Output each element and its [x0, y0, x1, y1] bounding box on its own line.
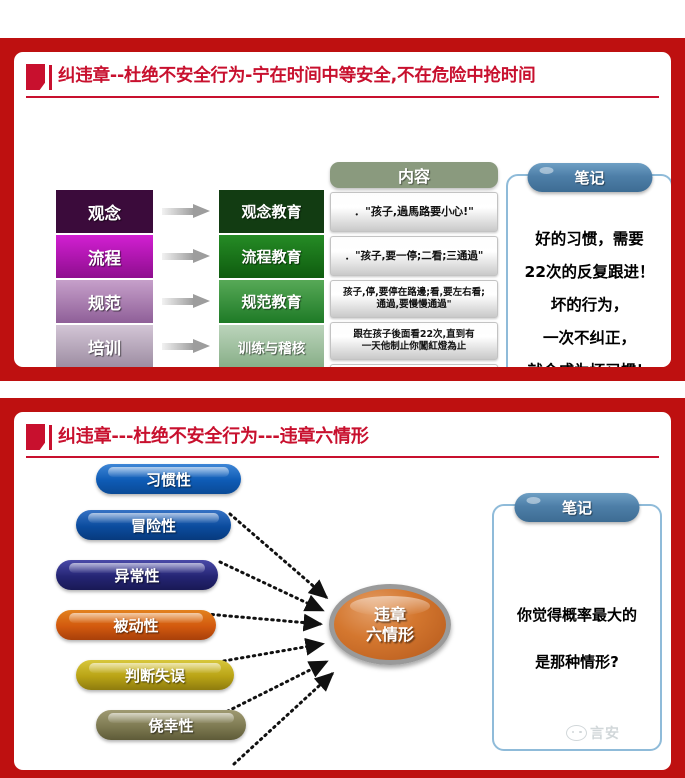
watermark: 言安 [566, 723, 620, 743]
concept-block[interactable]: 培训 [56, 325, 153, 367]
notes-caption: 笔记 [527, 163, 652, 192]
concept-block[interactable]: 流程 [56, 235, 153, 278]
pill-misjudgment[interactable]: 判断失误 [76, 660, 234, 690]
watermark-text: 言安 [590, 723, 620, 743]
notes-caption: 笔记 [515, 493, 640, 522]
notes-line: 就会成为坏习惯！ [527, 359, 651, 367]
education-block[interactable]: 训练与稽核 [219, 325, 324, 367]
content-row[interactable]: 跟在孩子後面看22次,直到有 一天他制止你闖紅燈為止 [330, 322, 498, 360]
flag-icon [26, 64, 45, 90]
notes-line: 你觉得概率最大的 [517, 604, 637, 625]
content-row[interactable]: ．"孩子,過馬路要小心!" [330, 192, 498, 232]
pill-risk-taking[interactable]: 冒险性 [76, 510, 231, 540]
slide-2-title-underline [26, 456, 659, 458]
arrow-icon [162, 339, 212, 354]
center-node-line2: 六情形 [366, 625, 414, 644]
education-block[interactable]: 规范教育 [219, 280, 324, 323]
concept-column: 观念 流程 规范 培训 激励 [56, 190, 153, 367]
slide-2-title-row: 纠违章---杜绝不安全行为---违章六情形 [24, 420, 661, 454]
center-node[interactable]: 违章 六情形 [329, 584, 451, 665]
content-row[interactable]: 給小孩買一個玩具 [330, 364, 498, 367]
content-row[interactable]: ．"孩子,要一停;二看;三通過" [330, 236, 498, 276]
notes-line: 好的习惯，需要 [535, 227, 644, 249]
content-panel: 内容 ．"孩子,過馬路要小心!" ．"孩子,要一停;二看;三通過" 孩子,停,要… [330, 162, 498, 367]
content-row[interactable]: 孩子,停,要停在路邊;看,要左右看; 通過,要慢慢通過" [330, 280, 498, 318]
notes-panel: 笔记 你觉得概率最大的 是那种情形? [492, 504, 662, 751]
title-divider [49, 425, 52, 450]
slide-deck-screenshot: 纠违章--杜绝不安全行为-宁在时间中等安全,不在危险中抢时间 观念 流程 规范 … [0, 0, 685, 778]
slide-1-title-row: 纠违章--杜绝不安全行为-宁在时间中等安全,不在危险中抢时间 [24, 60, 661, 94]
slide-2: 纠违章---杜绝不安全行为---违章六情形 习惯性 冒险性 [0, 398, 685, 778]
chat-bubble-icon [566, 725, 587, 741]
education-block[interactable]: 流程教育 [219, 235, 324, 278]
slide-1: 纠违章--杜绝不安全行为-宁在时间中等安全,不在危险中抢时间 观念 流程 规范 … [0, 38, 685, 381]
slide-2-title: 纠违章---杜绝不安全行为---违章六情形 [58, 428, 369, 446]
notes-body: 好的习惯，需要 22次的反复跟进！ 坏的行为， 一次不纠正， 就会成为坏习惯！ [514, 202, 665, 367]
flag-icon [26, 424, 45, 450]
notes-line: 22次的反复跟进！ [524, 260, 654, 282]
slide-1-title-underline [26, 96, 659, 98]
pill-abnormal[interactable]: 异常性 [56, 560, 218, 590]
pill-luck[interactable]: 侥幸性 [96, 710, 246, 740]
notes-line: 是那种情形? [535, 651, 619, 672]
pill-habitual[interactable]: 习惯性 [96, 464, 241, 494]
arrow-icon [162, 249, 212, 264]
notes-line: 一次不纠正， [543, 326, 636, 348]
notes-body: 你觉得概率最大的 是那种情形? [500, 532, 654, 743]
notes-line: 坏的行为， [551, 293, 629, 315]
title-divider [49, 65, 52, 90]
education-block[interactable]: 观念教育 [219, 190, 324, 233]
slide-1-inner: 纠违章--杜绝不安全行为-宁在时间中等安全,不在危险中抢时间 观念 流程 规范 … [14, 52, 671, 367]
center-node-line1: 违章 [374, 605, 406, 624]
concept-block[interactable]: 观念 [56, 190, 153, 233]
arrow-icon [162, 204, 212, 219]
concept-block[interactable]: 规范 [56, 280, 153, 323]
content-panel-header: 内容 [330, 162, 498, 188]
notes-panel: 笔记 好的习惯，需要 22次的反复跟进！ 坏的行为， 一次不纠正， 就会成为坏习… [506, 174, 671, 367]
slide-2-inner: 纠违章---杜绝不安全行为---违章六情形 习惯性 冒险性 [14, 412, 671, 770]
pill-passive[interactable]: 被动性 [56, 610, 216, 640]
slide-1-title: 纠违章--杜绝不安全行为-宁在时间中等安全,不在危险中抢时间 [58, 68, 535, 86]
arrow-icon [162, 294, 212, 309]
education-column: 观念教育 流程教育 规范教育 训练与稽核 绩效与激励 [219, 190, 324, 367]
